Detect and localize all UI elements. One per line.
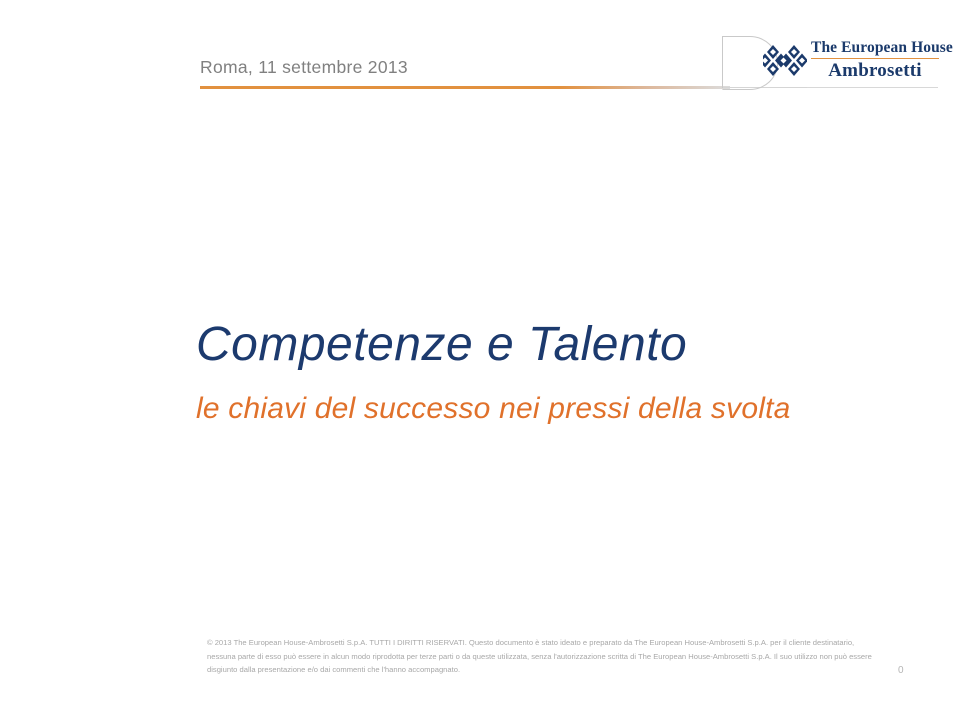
brand-logo-divider — [811, 58, 939, 59]
brand-logo-underline — [807, 87, 938, 88]
brand-logo: The European House Ambrosetti — [763, 38, 938, 88]
page-subtitle: le chiavi del successo nei pressi della … — [196, 390, 896, 428]
copyright-notice: © 2013 The European House-Ambrosetti S.p… — [207, 636, 879, 677]
title-block: Competenze e Talento le chiavi del succe… — [196, 316, 896, 428]
brand-logo-line-european-house: The European House — [811, 38, 939, 57]
header-orange-rule — [200, 86, 730, 89]
ambrosetti-diamond-logo-icon — [763, 44, 807, 78]
page-title: Competenze e Talento — [196, 316, 896, 374]
presentation-title-slide: Roma, 11 settembre 2013 — [0, 0, 960, 720]
page-number: 0 — [898, 665, 904, 676]
slide-footer: © 2013 The European House-Ambrosetti S.p… — [0, 628, 960, 698]
brand-logo-line-ambrosetti: Ambrosetti — [811, 60, 939, 82]
header-date-label: Roma, 11 settembre 2013 — [200, 57, 408, 78]
brand-logo-text: The European House Ambrosetti — [811, 38, 939, 82]
